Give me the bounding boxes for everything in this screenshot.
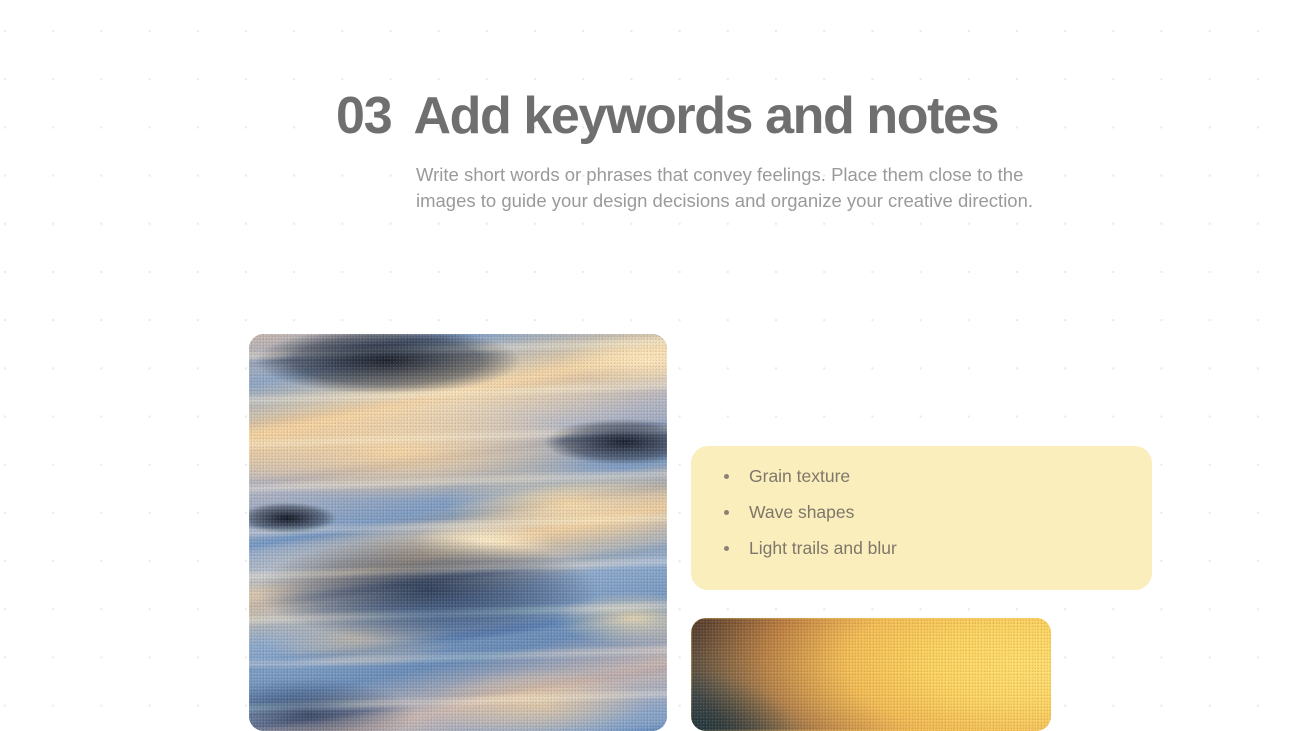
slide-header: 03 Add keywords and notes Write short wo…: [336, 90, 1036, 214]
list-item[interactable]: Grain texture: [721, 468, 1152, 486]
gradient-image-card[interactable]: [691, 618, 1051, 731]
header-title-row: 03 Add keywords and notes: [336, 90, 1036, 142]
slide-description: Write short words or phrases that convey…: [416, 162, 1034, 214]
water-image-card[interactable]: [249, 334, 667, 731]
keyword-list: Grain texture Wave shapes Light trails a…: [691, 446, 1152, 558]
keyword-note-card[interactable]: Grain texture Wave shapes Light trails a…: [691, 446, 1152, 590]
list-item[interactable]: Wave shapes: [721, 504, 1152, 522]
gradient-image-haze: [691, 618, 1051, 731]
water-image-sheen: [249, 334, 667, 731]
slide-canvas: 03 Add keywords and notes Write short wo…: [0, 0, 1300, 731]
page-title: Add keywords and notes: [413, 90, 998, 142]
list-item[interactable]: Light trails and blur: [721, 540, 1152, 558]
step-number: 03: [336, 90, 391, 142]
